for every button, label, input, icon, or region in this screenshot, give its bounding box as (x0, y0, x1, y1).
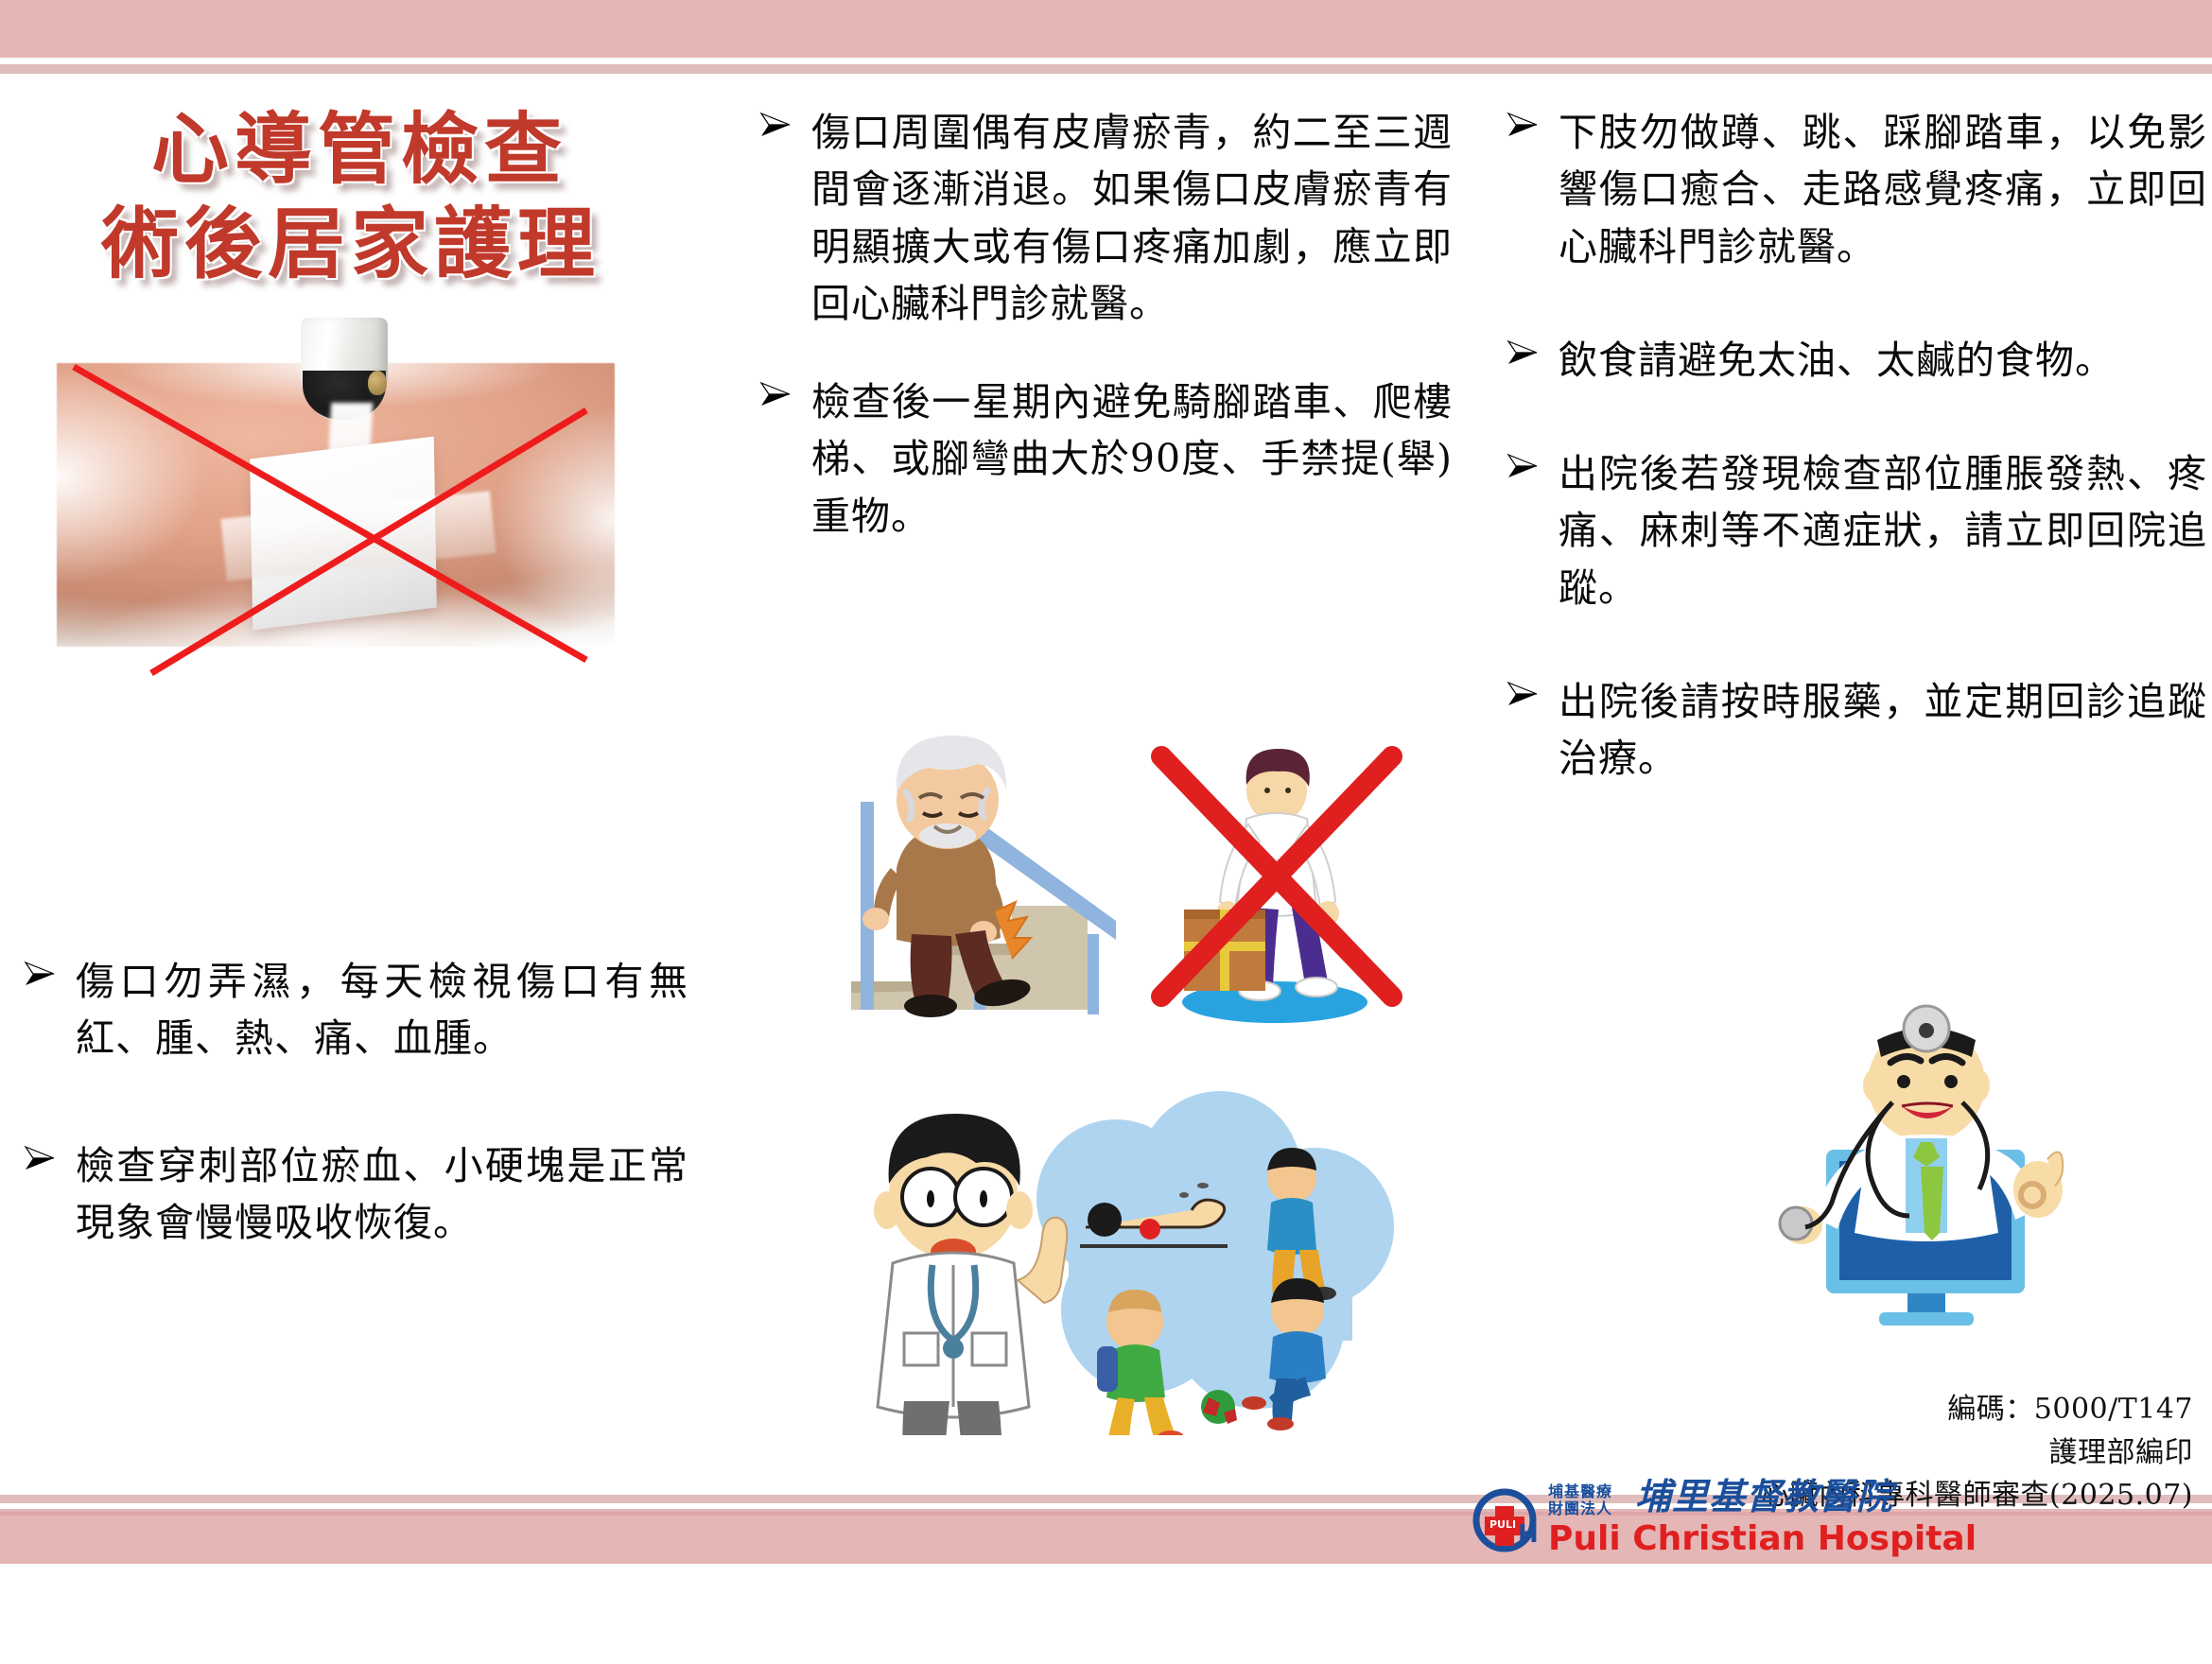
list-item-text: 檢查後一星期內避免騎腳踏車、爬樓梯、或腳彎曲大於90度、手禁提(舉)重物。 (811, 379, 1453, 539)
left-bullet-list: 傷口勿弄濕，每天檢視傷口有無紅、腫、熱、痛、血腫。 檢查穿刺部位瘀血、小硬塊是正… (17, 953, 688, 1251)
arrow-bullet-icon (1504, 447, 1541, 485)
red-cross-out-icon (57, 308, 615, 686)
arrow-bullet-icon (21, 955, 59, 993)
svg-text:H: H (1518, 1520, 1539, 1549)
footer-code: 編碼：5000/T147 (1550, 1388, 2193, 1431)
hospital-logo: PULI H 埔基醫療 財團法人 埔里基督教醫院 Puli Christian … (1471, 1478, 1896, 1563)
list-item: 下肢勿做蹲、跳、踩腳踏車，以免影響傷口癒合、走路感覺疼痛，立即回心臟科門診就醫。 (1500, 104, 2207, 275)
page-title-line-1: 心導管檢查 (57, 102, 662, 197)
hospital-name-en: Puli Christian Hospital (1548, 1519, 1977, 1558)
arrow-bullet-icon (1504, 334, 1541, 372)
hospital-legal-name: 埔基醫療 財團法人 (1548, 1483, 1612, 1518)
list-item-text: 檢查穿刺部位瘀血、小硬塊是正常現象會慢慢吸收恢復。 (76, 1143, 688, 1245)
list-item-text: 出院後請按時服藥，並定期回診追蹤治療。 (1559, 679, 2207, 781)
svg-text:PULI: PULI (1489, 1518, 1516, 1531)
doctor-in-monitor-illustration (1726, 991, 2123, 1341)
doctor-thought-bubble-illustration (832, 1085, 1419, 1435)
arrow-bullet-icon (757, 106, 794, 144)
list-item-text: 下肢勿做蹲、跳、踩腳踏車，以免影響傷口癒合、走路感覺疼痛，立即回心臟科門診就醫。 (1559, 110, 2207, 269)
list-item: 檢查後一星期內避免騎腳踏車、爬樓梯、或腳彎曲大於90度、手禁提(舉)重物。 (753, 373, 1453, 545)
hospital-legal-name-line-2: 財團法人 (1548, 1500, 1612, 1517)
hospital-legal-name-line-1: 埔基醫療 (1548, 1483, 1612, 1500)
wound-photo (57, 308, 615, 686)
footer-issuer: 護理部編印 (1550, 1431, 2193, 1475)
right-bullet-list: 下肢勿做蹲、跳、踩腳踏車，以免影響傷口癒合、走路感覺疼痛，立即回心臟科門診就醫。… (1500, 104, 2207, 787)
middle-bullet-list: 傷口周圍偶有皮膚瘀青，約二至三週間會逐漸消退。如果傷口皮膚瘀青有明顯擴大或有傷口… (753, 104, 1453, 545)
list-item: 出院後請按時服藥，並定期回診追蹤治療。 (1500, 673, 2207, 788)
arrow-bullet-icon (21, 1139, 59, 1177)
arrow-bullet-icon (757, 375, 794, 413)
hospital-name-cn: 埔里基督教醫院 (1635, 1478, 1893, 1516)
arrow-bullet-icon (1504, 106, 1541, 144)
list-item: 傷口周圍偶有皮膚瘀青，約二至三週間會逐漸消退。如果傷口皮膚瘀青有明顯擴大或有傷口… (753, 104, 1453, 332)
list-item-text: 傷口勿弄濕，每天檢視傷口有無紅、腫、熱、痛、血腫。 (76, 959, 688, 1061)
page-title-line-2: 術後居家護理 (40, 197, 662, 291)
arrow-bullet-icon (1504, 675, 1541, 713)
hospital-logo-mark-icon: PULI H (1471, 1483, 1544, 1557)
list-item-text: 傷口周圍偶有皮膚瘀青，約二至三週間會逐漸消退。如果傷口皮膚瘀青有明顯擴大或有傷口… (811, 110, 1453, 326)
list-item: 檢查穿刺部位瘀血、小硬塊是正常現象會慢慢吸收恢復。 (17, 1137, 688, 1252)
page-title: 心導管檢查 術後居家護理 (57, 102, 662, 291)
list-item-text: 出院後若發現檢查部位腫脹發熱、疼痛、麻刺等不適症狀，請立即回院追蹤。 (1559, 451, 2207, 611)
list-item: 飲食請避免太油、太鹹的食物。 (1500, 332, 2207, 389)
list-item: 傷口勿弄濕，每天檢視傷口有無紅、腫、熱、痛、血腫。 (17, 953, 688, 1067)
list-item: 出院後若發現檢查部位腫脹發熱、疼痛、麻刺等不適症狀，請立即回院追蹤。 (1500, 445, 2207, 616)
page-content: 心導管檢查 術後居家護理 (0, 74, 2212, 1495)
top-decorative-band-thin (0, 64, 2212, 74)
stairs-and-lifting-illustration (832, 698, 1419, 1029)
top-decorative-band-thick (0, 0, 2212, 58)
list-item-text: 飲食請避免太油、太鹹的食物。 (1559, 338, 2115, 383)
